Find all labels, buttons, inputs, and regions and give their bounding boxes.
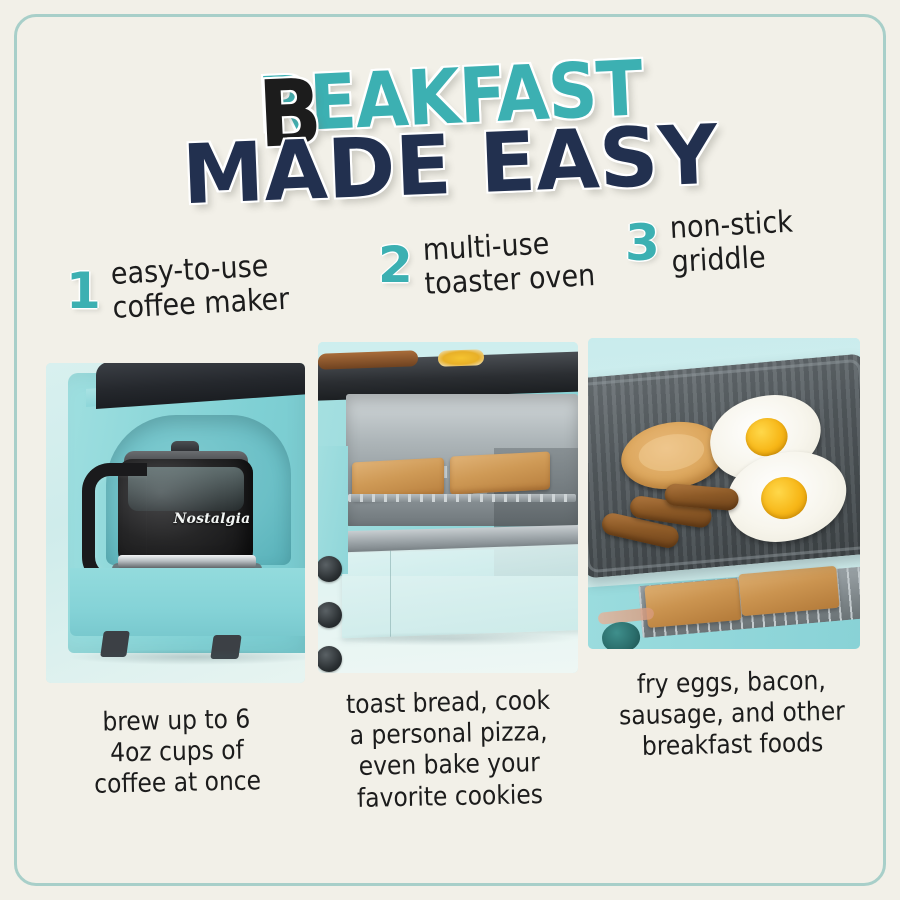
product-photo-coffee-maker: Nostalgia bbox=[46, 363, 305, 683]
product-photo-griddle bbox=[588, 338, 860, 649]
toast-slice bbox=[450, 451, 550, 494]
title-block: BREAKFAST MADE EASY bbox=[0, 52, 900, 202]
infographic-poster: BREAKFAST MADE EASY 1 easy-to-use coffee… bbox=[0, 0, 900, 900]
feature-heading-1: 1 easy-to-use coffee maker bbox=[66, 258, 287, 325]
feature-heading-3: 3 non-stick griddle bbox=[625, 212, 792, 279]
egg-on-top-griddle bbox=[438, 349, 484, 367]
feature-title-3: non-stick griddle bbox=[669, 206, 795, 280]
feature-number-3: 3 bbox=[625, 220, 660, 268]
feature-title-2: multi-use toaster oven bbox=[422, 225, 596, 301]
toast-slice bbox=[738, 566, 839, 616]
feature-headings-row: 1 easy-to-use coffee maker 2 multi-use t… bbox=[0, 206, 900, 331]
toast-slice bbox=[644, 578, 741, 628]
product-photo-toaster-oven bbox=[318, 342, 578, 673]
nostalgia-brand-logo: Nostalgia bbox=[164, 511, 260, 527]
feature-caption-2: toast bread, cook a personal pizza, even… bbox=[315, 685, 584, 815]
feature-number-1: 1 bbox=[66, 268, 101, 316]
feature-title-1: easy-to-use coffee maker bbox=[110, 249, 290, 325]
coffee-maker-base bbox=[70, 568, 305, 636]
griddle-cooking-surface bbox=[588, 353, 860, 578]
feature-number-2: 2 bbox=[378, 242, 413, 290]
feature-caption-3: fry eggs, bacon, sausage, and other brea… bbox=[595, 665, 869, 764]
feature-caption-1: brew up to 6 4oz cups of coffee at once bbox=[45, 703, 309, 802]
oven-wire-rack bbox=[348, 494, 576, 502]
egg-yolk bbox=[758, 474, 809, 522]
photo-drop-shadow bbox=[66, 649, 305, 665]
oven-door-glass bbox=[342, 544, 578, 639]
feature-heading-2: 2 multi-use toaster oven bbox=[378, 234, 593, 301]
control-panel bbox=[318, 446, 348, 574]
photo-drop-shadow bbox=[328, 632, 578, 646]
